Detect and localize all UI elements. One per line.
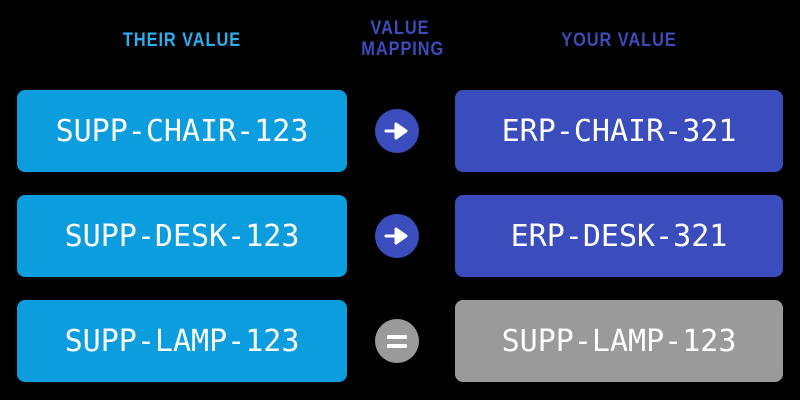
mapping-badge[interactable] (375, 109, 419, 153)
column-header-value-mapping: VALUE MAPPING (361, 18, 438, 60)
their-value-box[interactable]: SUPP-DESK-123 (17, 195, 347, 277)
their-value-text: SUPP-DESK-123 (65, 219, 300, 254)
equals-icon (387, 335, 407, 348)
their-value-box[interactable]: SUPP-LAMP-123 (17, 300, 347, 382)
your-value-text: ERP-CHAIR-321 (502, 114, 737, 149)
mapping-badge[interactable] (375, 319, 419, 363)
arrow-right-icon (384, 121, 410, 141)
their-value-text: SUPP-CHAIR-123 (56, 114, 309, 149)
your-value-box[interactable]: ERP-DESK-321 (455, 195, 783, 277)
column-header-their-value: THEIR VALUE (40, 30, 324, 51)
column-header-your-value: YOUR VALUE (478, 30, 760, 51)
their-value-box[interactable]: SUPP-CHAIR-123 (17, 90, 347, 172)
your-value-box[interactable]: ERP-CHAIR-321 (455, 90, 783, 172)
your-value-text: ERP-DESK-321 (511, 219, 728, 254)
mapping-badge[interactable] (375, 214, 419, 258)
your-value-box[interactable]: SUPP-LAMP-123 (455, 300, 783, 382)
value-mapping-diagram: THEIR VALUE VALUE MAPPING YOUR VALUE SUP… (0, 0, 800, 400)
your-value-text: SUPP-LAMP-123 (502, 324, 737, 359)
arrow-right-icon (384, 226, 410, 246)
their-value-text: SUPP-LAMP-123 (65, 324, 300, 359)
mapping-row: SUPP-LAMP-123 SUPP-LAMP-123 (0, 300, 800, 382)
mapping-row: SUPP-DESK-123 ERP-DESK-321 (0, 195, 800, 277)
mapping-row: SUPP-CHAIR-123 ERP-CHAIR-321 (0, 90, 800, 172)
